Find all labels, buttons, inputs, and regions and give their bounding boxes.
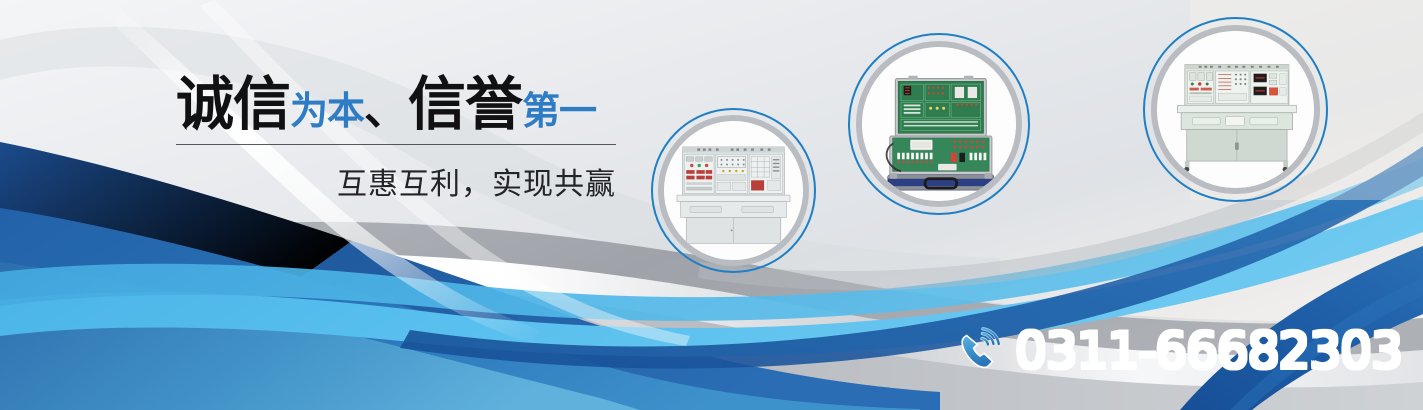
electrical-training-workbench-image	[664, 121, 803, 260]
slogan-subtitle: 互惠互利，实现共赢	[176, 159, 616, 203]
product-circle-workbench[interactable]	[651, 108, 816, 273]
portable-electronics-training-case-image	[862, 47, 1016, 201]
product-circle-machine-bench[interactable]	[1143, 17, 1328, 202]
product-circle-training-case[interactable]	[848, 33, 1030, 215]
slogan-headline: 诚信为本、信誉第一	[176, 76, 626, 138]
phone-call-icon	[955, 327, 1003, 375]
contact-phone-block[interactable]: 0311-66682303	[955, 326, 1402, 376]
phone-number[interactable]: 0311-66682303	[1015, 326, 1402, 376]
circle-gray-ring	[856, 41, 1022, 207]
slogan-part-diyi: 第一	[522, 91, 596, 133]
slogan-part-xinyu: 信誉	[408, 72, 522, 137]
promo-banner: 诚信为本、信誉第一 互惠互利，实现共赢	[0, 0, 1423, 410]
circle-gray-ring	[1151, 25, 1320, 194]
slogan-divider	[176, 144, 616, 145]
slogan-block: 诚信为本、信誉第一 互惠互利，实现共赢	[176, 76, 626, 203]
circle-gray-ring	[658, 115, 809, 266]
electrical-machine-test-bench-image	[1157, 31, 1314, 188]
slogan-punctuation: 、	[364, 85, 408, 134]
slogan-part-chengxin: 诚信	[176, 72, 290, 137]
slogan-part-weiben: 为本	[290, 91, 364, 133]
